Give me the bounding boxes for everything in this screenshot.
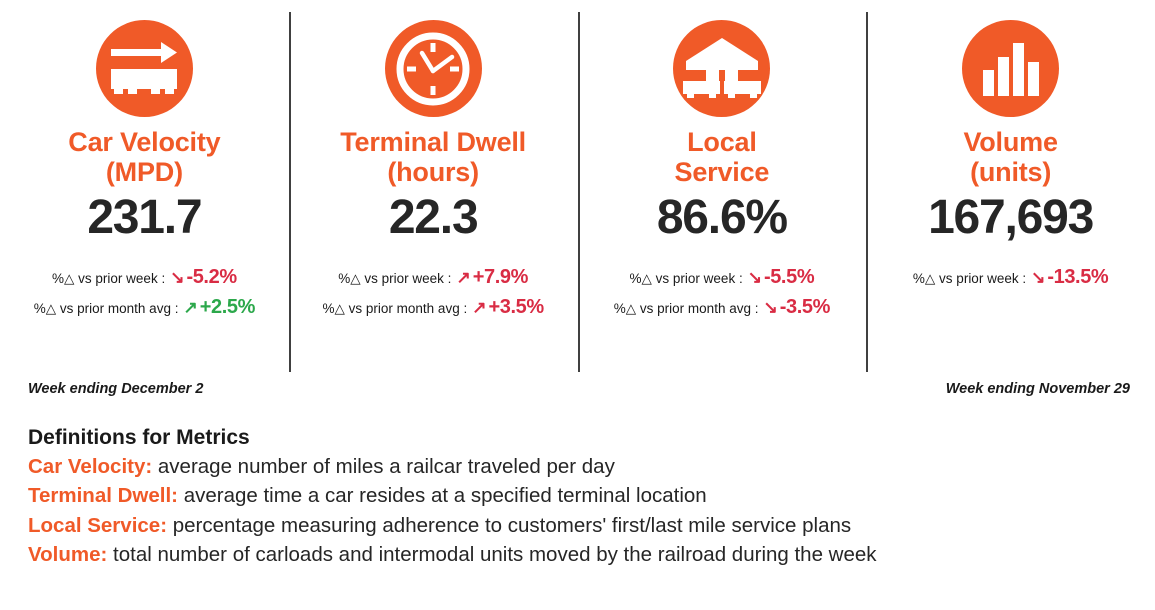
railcar-arrow-icon	[96, 20, 193, 117]
definition-text: average number of miles a railcar travel…	[152, 455, 615, 478]
kpi-title-line-2: (units)	[963, 157, 1057, 187]
kpi-title-car-velocity: Car Velocity (MPD)	[68, 127, 220, 187]
clock-icon	[385, 20, 482, 117]
delta-label: %△ vs prior month avg :	[323, 301, 468, 317]
definition-term: Local Service:	[28, 514, 167, 537]
delta-value: -5.2%	[186, 266, 236, 289]
delta-label: %△ vs prior month avg :	[34, 301, 179, 317]
kpi-title-line-2: (MPD)	[68, 157, 220, 187]
definition-term: Terminal Dwell:	[28, 484, 178, 507]
kpi-title-terminal-dwell: Terminal Dwell (hours)	[340, 127, 526, 187]
arrow-up-right-icon: ↗	[183, 299, 197, 316]
warehouse-railcars-icon	[673, 20, 770, 117]
delta-row-prior-month-avg: %△ vs prior month avg : ↗ +3.5%	[323, 296, 544, 319]
kpi-title-local-service: Local Service	[675, 127, 770, 187]
arrow-down-right-icon: ↘	[170, 269, 184, 286]
week-ending-labels: Week ending December 2 Week ending Novem…	[0, 381, 1155, 407]
kpi-dashboard: Car Velocity (MPD) 231.7 %△ vs prior wee…	[0, 0, 1155, 610]
delta-row-prior-week: %△ vs prior week : ↘ -5.2%	[52, 266, 237, 289]
kpi-title-line-2: (hours)	[340, 157, 526, 187]
definition-item-volume: Volume: total number of carloads and int…	[28, 540, 1138, 569]
delta-label: %△ vs prior month avg :	[614, 301, 759, 317]
definition-text: total number of carloads and intermodal …	[107, 543, 876, 566]
kpi-value-terminal-dwell: 22.3	[389, 193, 478, 243]
kpi-value-volume: 167,693	[928, 193, 1093, 243]
definitions-section: Definitions for Metrics Car Velocity: av…	[28, 424, 1138, 569]
delta-label: %△ vs prior week :	[630, 271, 743, 287]
delta-value: -13.5%	[1047, 266, 1108, 289]
arrow-down-right-icon: ↘	[748, 269, 762, 286]
delta-value: +3.5%	[488, 296, 543, 319]
definitions-heading: Definitions for Metrics	[28, 424, 1138, 451]
kpi-deltas-local-service: %△ vs prior week : ↘ -5.5% %△ vs prior m…	[578, 266, 867, 319]
arrow-down-right-icon: ↘	[1031, 269, 1045, 286]
definition-text: average time a car resides at a specifie…	[178, 484, 707, 507]
kpi-title-line-1: Car Velocity	[68, 127, 220, 157]
kpi-title-line-2: Service	[675, 157, 770, 187]
kpi-card-local-service[interactable]: Local Service 86.6% %△ vs prior week : ↘…	[578, 0, 867, 376]
kpi-card-row: Car Velocity (MPD) 231.7 %△ vs prior wee…	[0, 0, 1155, 376]
definition-item-local-service: Local Service: percentage measuring adhe…	[28, 511, 1138, 540]
definition-item-car-velocity: Car Velocity: average number of miles a …	[28, 452, 1138, 481]
delta-label: %△ vs prior week :	[913, 271, 1026, 287]
definition-term: Car Velocity:	[28, 455, 152, 478]
definition-item-terminal-dwell: Terminal Dwell: average time a car resid…	[28, 481, 1138, 510]
kpi-value-local-service: 86.6%	[657, 193, 787, 243]
delta-row-prior-month-avg: %△ vs prior month avg : ↗ +2.5%	[34, 296, 255, 319]
week-ending-label-right: Week ending November 29	[946, 381, 1130, 397]
kpi-card-terminal-dwell[interactable]: Terminal Dwell (hours) 22.3 %△ vs prior …	[289, 0, 578, 376]
delta-value: +2.5%	[200, 296, 255, 319]
delta-row-prior-week: %△ vs prior week : ↗ +7.9%	[338, 266, 528, 289]
delta-value: +7.9%	[473, 266, 528, 289]
bar-chart-icon	[962, 20, 1059, 117]
delta-row-prior-week: %△ vs prior week : ↘ -13.5%	[913, 266, 1108, 289]
kpi-title-line-1: Local	[675, 127, 770, 157]
kpi-value-car-velocity: 231.7	[87, 193, 201, 243]
kpi-deltas-car-velocity: %△ vs prior week : ↘ -5.2% %△ vs prior m…	[0, 266, 289, 319]
kpi-title-volume: Volume (units)	[963, 127, 1057, 187]
kpi-deltas-volume: %△ vs prior week : ↘ -13.5%	[866, 266, 1155, 289]
arrow-up-right-icon: ↗	[472, 299, 486, 316]
kpi-deltas-terminal-dwell: %△ vs prior week : ↗ +7.9% %△ vs prior m…	[289, 266, 578, 319]
delta-label: %△ vs prior week :	[338, 271, 451, 287]
arrow-up-right-icon: ↗	[456, 269, 470, 286]
week-ending-label-left: Week ending December 2	[28, 381, 203, 397]
definition-text: percentage measuring adherence to custom…	[167, 514, 851, 537]
delta-row-prior-week: %△ vs prior week : ↘ -5.5%	[630, 266, 815, 289]
delta-row-prior-month-avg: %△ vs prior month avg : ↘ -3.5%	[614, 296, 830, 319]
kpi-card-car-velocity[interactable]: Car Velocity (MPD) 231.7 %△ vs prior wee…	[0, 0, 289, 376]
kpi-title-line-1: Terminal Dwell	[340, 127, 526, 157]
delta-label: %△ vs prior week :	[52, 271, 165, 287]
delta-value: -3.5%	[780, 296, 830, 319]
definition-term: Volume:	[28, 543, 107, 566]
kpi-card-volume[interactable]: Volume (units) 167,693 %△ vs prior week …	[866, 0, 1155, 376]
kpi-title-line-1: Volume	[963, 127, 1057, 157]
arrow-down-right-icon: ↘	[763, 299, 777, 316]
delta-value: -5.5%	[764, 266, 814, 289]
